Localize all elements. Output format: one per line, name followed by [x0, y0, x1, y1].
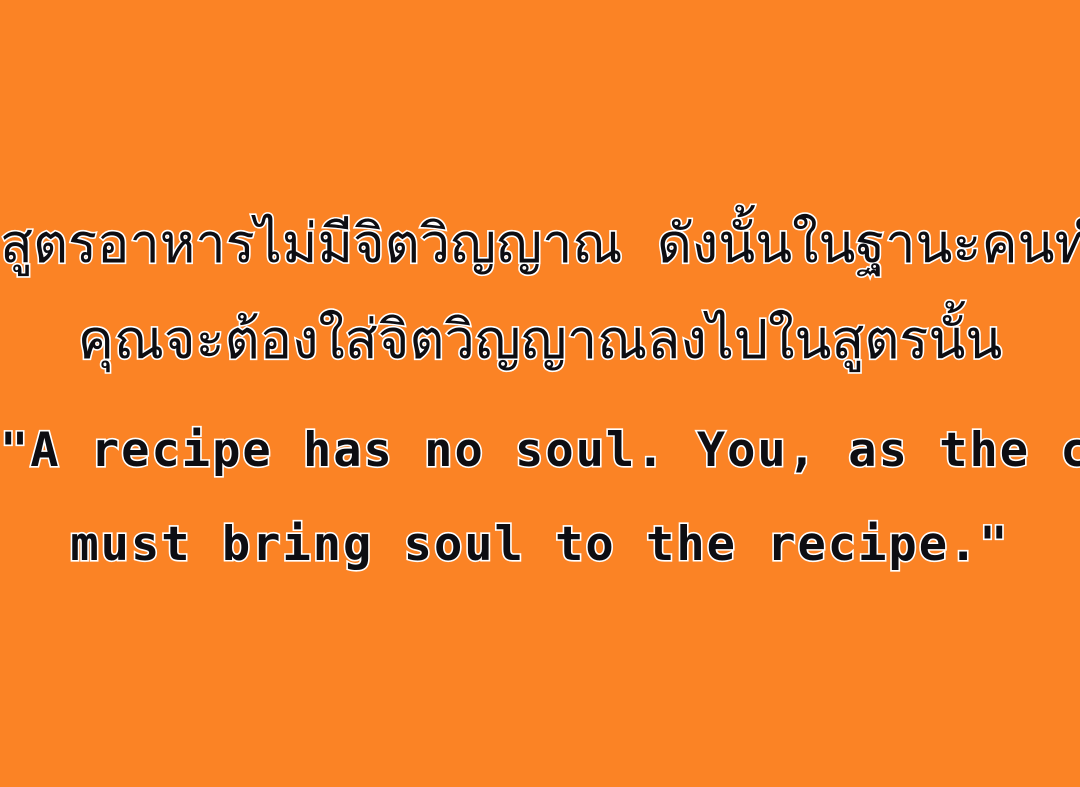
quote-line-english-2: must bring soul to the recipe.": [0, 498, 1080, 592]
quote-text-block: สูตรอาหารไม่มีจิตวิญญาณ ดังนั้นในฐานะคนท…: [0, 196, 1080, 592]
quote-card: สูตรอาหารไม่มีจิตวิญญาณ ดังนั้นในฐานะคนท…: [0, 0, 1080, 787]
quote-line-english-1: "A recipe has no soul. You, as the cook,: [0, 404, 1080, 498]
quote-line-thai-1: สูตรอาหารไม่มีจิตวิญญาณ ดังนั้นในฐานะคนท…: [0, 196, 1080, 292]
quote-line-thai-2: คุณจะต้องใส่จิตวิญญาณลงไปในสูตรนั้น: [0, 292, 1080, 388]
